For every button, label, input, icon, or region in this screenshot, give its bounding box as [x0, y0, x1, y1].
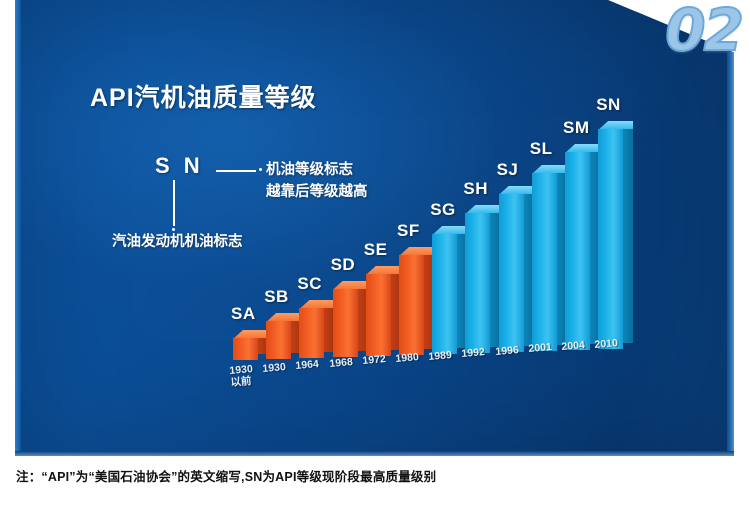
bar-front-face: [266, 321, 291, 359]
year-line1: 1992: [461, 346, 485, 360]
bar-side-face: [623, 129, 633, 343]
bar-year-label-sh: 1992: [461, 346, 485, 360]
year-line1: 2004: [561, 339, 585, 353]
year-line1: 1968: [329, 356, 353, 370]
bar-year-label-sg: 1989: [428, 349, 452, 363]
bar-front-face: [333, 289, 358, 357]
bar-grade-label-sh: SH: [463, 179, 488, 199]
bar-year-label-sf: 1980: [395, 351, 419, 365]
bar-grade-label-sj: SJ: [497, 160, 519, 180]
bar-sh: [465, 205, 490, 353]
bar-sm: [565, 144, 590, 350]
slide-page: 02 API汽机油质量等级 S N 机油等级标志 越靠后等级越高 汽油发动机机油…: [0, 0, 750, 512]
bar-year-label-sd: 1968: [329, 356, 353, 370]
bar-grade-label-sm: SM: [563, 118, 590, 138]
bar-grade-label-sf: SF: [397, 221, 420, 241]
bar-sn: [598, 121, 623, 349]
year-line1: 2010: [594, 337, 618, 351]
bar-front-face: [299, 308, 324, 358]
bar-grade-label-sg: SG: [430, 200, 456, 220]
bar-front-face: [366, 274, 391, 356]
year-line1: 1996: [495, 344, 519, 358]
year-line1: 1972: [362, 353, 386, 367]
bar-grade-label-sb: SB: [264, 287, 289, 307]
bar-se: [366, 266, 391, 356]
bar-sg: [432, 226, 457, 354]
footnote: 注：“API”为“美国石油协会”的英文缩写,SN为API等级现阶段最高质量级别: [16, 466, 436, 485]
bar-front-face: [233, 338, 258, 360]
bar-year-label-sc: 1964: [295, 358, 319, 372]
bar-sa: [233, 330, 258, 360]
bar-year-label-sa: 1930以前: [229, 363, 254, 389]
bar-front-face: [565, 152, 590, 350]
bar-year-label-sb: 1930: [262, 361, 286, 375]
bar-front-face: [598, 129, 623, 349]
year-line1: 1964: [295, 358, 319, 372]
bar-sd: [333, 281, 358, 357]
bar-grade-label-sc: SC: [297, 274, 322, 294]
bar-year-label-sl: 2001: [528, 341, 552, 355]
bar-year-label-se: 1972: [362, 353, 386, 367]
bar-front-face: [432, 234, 457, 354]
bar-year-label-sm: 2004: [561, 339, 585, 353]
bar-year-label-sj: 1996: [495, 344, 519, 358]
bar-front-face: [465, 213, 490, 353]
year-line1: 2001: [528, 341, 552, 355]
bar-grade-label-se: SE: [364, 240, 388, 260]
bar-front-face: [399, 255, 424, 355]
bar-grade-label-sd: SD: [331, 255, 356, 275]
bar-sf: [399, 247, 424, 355]
year-line1: 1989: [428, 349, 452, 363]
bar-sj: [499, 186, 524, 352]
bar-sc: [299, 300, 324, 358]
year-line1: 1980: [395, 351, 419, 365]
bar-sb: [266, 313, 291, 359]
bar-year-label-sn: 2010: [594, 337, 618, 351]
bar-sl: [532, 165, 557, 351]
bar-front-face: [499, 194, 524, 352]
year-line1: 1930: [262, 361, 286, 375]
bar-grade-label-sa: SA: [231, 304, 256, 324]
year-line2: 以前: [230, 375, 252, 389]
api-grade-bar-chart: SA1930以前SB1930SC1964SD1968SE1972SF1980SG…: [15, 0, 734, 456]
bar-grade-label-sn: SN: [596, 95, 621, 115]
bar-front-face: [532, 173, 557, 351]
bar-grade-label-sl: SL: [530, 139, 553, 159]
